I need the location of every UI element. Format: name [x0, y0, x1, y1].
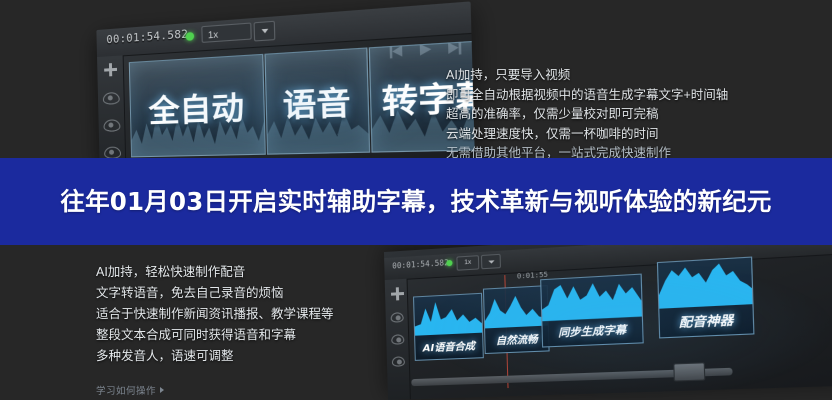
audio-clip-label: 配音神器 [678, 311, 733, 332]
feature-line: 适合于快速制作新闻资讯播报、教学课程等 [96, 304, 396, 325]
feature-line: 整段文本合成可同时获得语音和字幕 [96, 325, 396, 346]
bottom-feature-list: AI加持，轻松快速制作配音 文字转语音，免去自己录音的烦恼 适合于快速制作新闻资… [96, 262, 396, 397]
feature-line: 文字转语音，免去自己录音的烦恼 [96, 283, 396, 304]
audio-clip-card[interactable]: 配音神器 [657, 256, 755, 338]
track-visibility-toggle-1[interactable] [102, 89, 120, 108]
chevron-right-icon [160, 387, 164, 393]
bottom-track-rail [385, 279, 411, 400]
playback-speed-value[interactable]: 1x [201, 22, 251, 42]
subtitle-clip-card[interactable]: 全自动 [129, 54, 266, 158]
feature-line: 云端处理速度快，仅需一杯咖啡的时间 [446, 125, 832, 145]
title-banner: 往年01月03日开启实时辅助字幕，技术革新与视听体验的新纪元 [0, 158, 832, 245]
eye-icon [103, 119, 120, 132]
feature-line: 超高的准确率，仅需少量校对即可完稿 [446, 105, 832, 125]
chevron-down-icon[interactable] [254, 21, 276, 42]
waveform-graphic [541, 275, 642, 322]
audio-clip-card[interactable]: AI语音合成 [413, 293, 484, 361]
audio-clip-card[interactable]: 同步生成字幕 [540, 274, 644, 348]
chevron-down-icon[interactable] [481, 254, 501, 270]
feature-line: AI加持，只要导入视频 [446, 66, 832, 86]
timecode-display: 00:01:54.582 [106, 28, 188, 46]
learn-how-link[interactable]: 学习如何操作 [96, 383, 396, 397]
plus-icon [104, 62, 117, 76]
add-track-button[interactable] [388, 284, 404, 301]
playback-speed-value[interactable]: 1x [456, 255, 479, 271]
waveform-graphic [484, 286, 548, 329]
audio-clip-label: 自然流畅 [496, 330, 538, 347]
learn-how-label: 学习如何操作 [96, 383, 156, 397]
feature-line: 即可全自动根据视频中的语音生成字幕文字+时间轴 [446, 86, 832, 106]
add-track-button[interactable] [101, 60, 119, 79]
track-visibility-toggle-1[interactable] [389, 309, 405, 326]
screenshot-root: 00:01:54.582 1x 全自动 语音 [0, 0, 832, 400]
subtitle-clip-label: 全自动 [148, 82, 245, 132]
audio-clip-label: 同步生成字幕 [558, 322, 627, 341]
timeline-scrollbar-thumb[interactable] [673, 362, 705, 381]
top-track-rail [97, 55, 126, 165]
eye-icon [390, 312, 403, 323]
record-status-indicator [186, 32, 195, 41]
subtitle-clip-card[interactable]: 语音 [264, 47, 370, 154]
track-visibility-toggle-3[interactable] [390, 353, 406, 370]
feature-line: AI加持，轻松快速制作配音 [96, 262, 396, 283]
top-video-editor-panel: 00:01:54.582 1x 全自动 语音 [96, 1, 475, 165]
waveform-graphic [414, 294, 482, 336]
track-visibility-toggle-2[interactable] [389, 331, 405, 348]
bottom-audio-editor-panel: 00:01:54.582 1x 0:01:55 AI语音合成 自然流畅 [384, 221, 832, 400]
audio-clip-label: AI语音合成 [422, 337, 475, 354]
eye-icon [391, 356, 404, 367]
subtitle-clip-label: 语音 [282, 77, 351, 126]
top-feature-list: AI加持，只要导入视频 即可全自动根据视频中的语音生成字幕文字+时间轴 超高的准… [446, 66, 832, 164]
track-visibility-toggle-2[interactable] [102, 116, 120, 135]
plus-icon [391, 287, 401, 298]
waveform-graphic [658, 258, 752, 309]
page-title: 往年01月03日开启实时辅助字幕，技术革新与视听体验的新纪元 [34, 185, 797, 218]
eye-icon [391, 334, 404, 345]
feature-line: 多种发音人，语速可调整 [96, 346, 396, 367]
eye-icon [102, 92, 119, 105]
